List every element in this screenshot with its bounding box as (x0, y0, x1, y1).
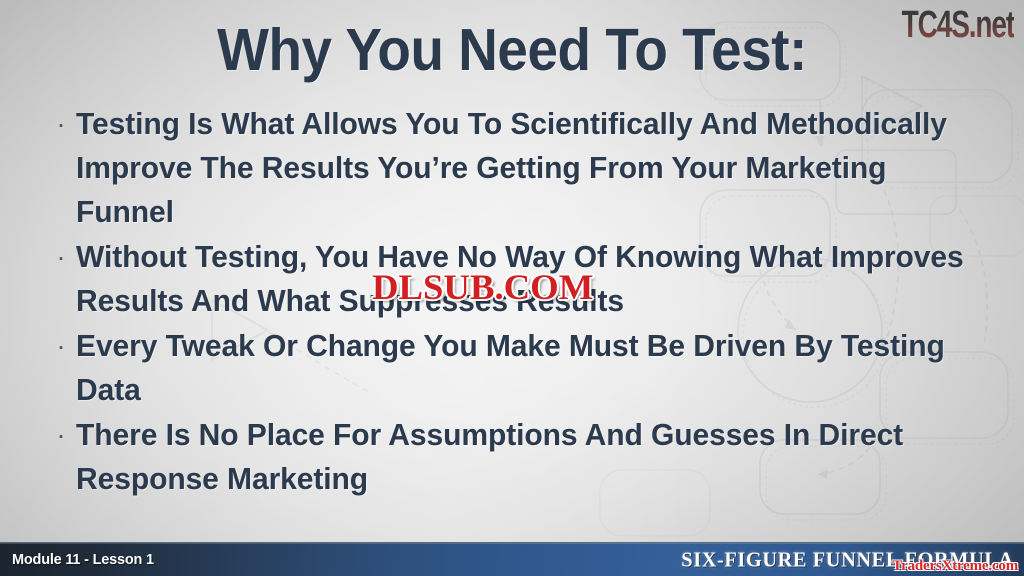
page-title: Why You Need To Test: (36, 20, 988, 82)
watermark-tradersxtreme: TradersXtreme.com (892, 558, 1018, 575)
list-item-text: Every Tweak Or Change You Make Must Be D… (76, 324, 972, 412)
watermark-tc4s: TC4S.net (902, 2, 1014, 47)
lesson-label: Module 11 - Lesson 1 (12, 552, 154, 568)
bullet-dot-icon: · (46, 235, 76, 279)
list-item: · Every Tweak Or Change You Make Must Be… (46, 324, 986, 412)
slide-footer-bar: Module 11 - Lesson 1 SIX-FIGURE FUNNEL F… (0, 542, 1024, 576)
list-item: · There Is No Place For Assumptions And … (46, 413, 986, 501)
presentation-slide: Why You Need To Test: · Testing Is What … (0, 0, 1024, 576)
watermark-dlsub: DLSUB.COM (372, 266, 593, 308)
list-item-text: There Is No Place For Assumptions And Gu… (76, 413, 972, 501)
bullet-dot-icon: · (46, 102, 76, 146)
bullet-dot-icon: · (46, 413, 76, 457)
bullet-dot-icon: · (46, 324, 76, 368)
list-item: · Testing Is What Allows You To Scientif… (46, 102, 986, 234)
list-item-text: Testing Is What Allows You To Scientific… (76, 102, 972, 234)
